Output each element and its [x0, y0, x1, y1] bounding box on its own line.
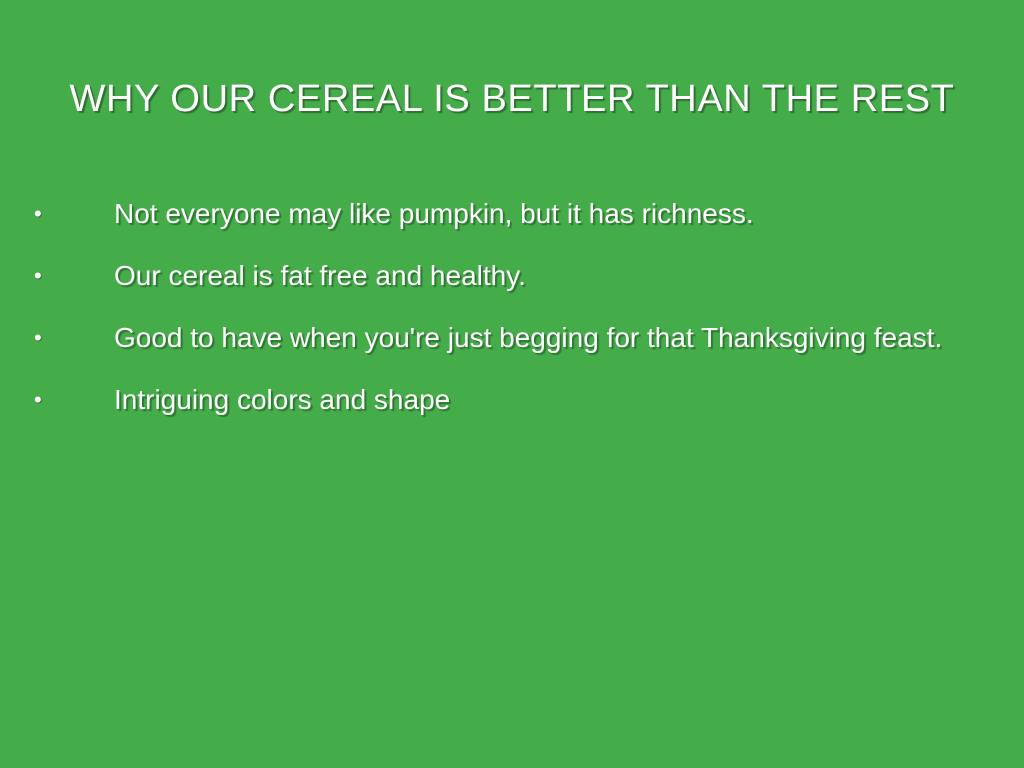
list-item-label: Good to have when you're just begging fo… [114, 322, 942, 353]
bullet-point-icon: • [34, 316, 46, 360]
bullet-list: • Not everyone may like pumpkin, but it … [0, 192, 1024, 440]
list-item-label: Not everyone may like pumpkin, but it ha… [114, 198, 754, 229]
bullet-point-icon: • [34, 378, 46, 422]
bullet-point-icon: • [34, 254, 46, 298]
presentation-slide: WHY OUR CEREAL IS BETTER THAN THE REST •… [0, 0, 1024, 768]
list-item: • Our cereal is fat free and healthy. [0, 254, 1024, 316]
page-title: WHY OUR CEREAL IS BETTER THAN THE REST [0, 76, 1024, 122]
list-item-label: Intriguing colors and shape [114, 384, 450, 415]
list-item: • Intriguing colors and shape [0, 378, 1024, 440]
bullet-point-icon: • [34, 192, 46, 236]
list-item: • Not everyone may like pumpkin, but it … [0, 192, 1024, 254]
list-item: • Good to have when you're just begging … [0, 316, 1024, 378]
list-item-label: Our cereal is fat free and healthy. [114, 260, 526, 291]
